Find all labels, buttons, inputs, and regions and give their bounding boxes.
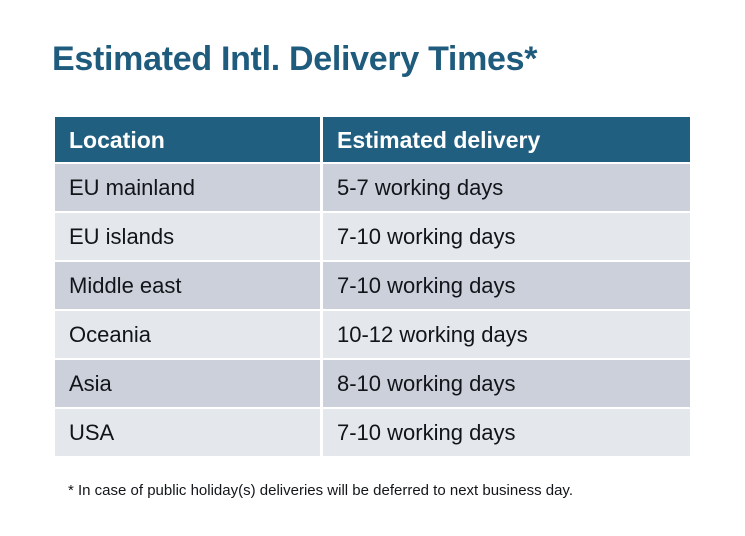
table-header-row: Location Estimated delivery [55,117,690,162]
delivery-times-table: Location Estimated delivery EU mainland … [52,115,693,458]
table-body: EU mainland 5-7 working days EU islands … [55,164,690,456]
page-title: Estimated Intl. Delivery Times* [52,38,537,80]
footnote: * In case of public holiday(s) deliverie… [68,481,573,501]
cell-location: EU mainland [55,164,320,211]
cell-location: Oceania [55,311,320,358]
cell-location: Middle east [55,262,320,309]
cell-delivery: 8-10 working days [323,360,690,407]
table-row: EU mainland 5-7 working days [55,164,690,211]
cell-delivery: 7-10 working days [323,262,690,309]
column-header-delivery: Estimated delivery [323,117,690,162]
cell-delivery: 5-7 working days [323,164,690,211]
table-row: USA 7-10 working days [55,409,690,456]
cell-delivery: 7-10 working days [323,213,690,260]
cell-delivery: 7-10 working days [323,409,690,456]
table-row: Middle east 7-10 working days [55,262,690,309]
table-header: Location Estimated delivery [55,117,690,162]
table-row: Oceania 10-12 working days [55,311,690,358]
cell-location: USA [55,409,320,456]
delivery-times-page: Estimated Intl. Delivery Times* Location… [0,0,745,536]
cell-location: EU islands [55,213,320,260]
table-row: Asia 8-10 working days [55,360,690,407]
cell-location: Asia [55,360,320,407]
table-row: EU islands 7-10 working days [55,213,690,260]
column-header-location: Location [55,117,320,162]
cell-delivery: 10-12 working days [323,311,690,358]
